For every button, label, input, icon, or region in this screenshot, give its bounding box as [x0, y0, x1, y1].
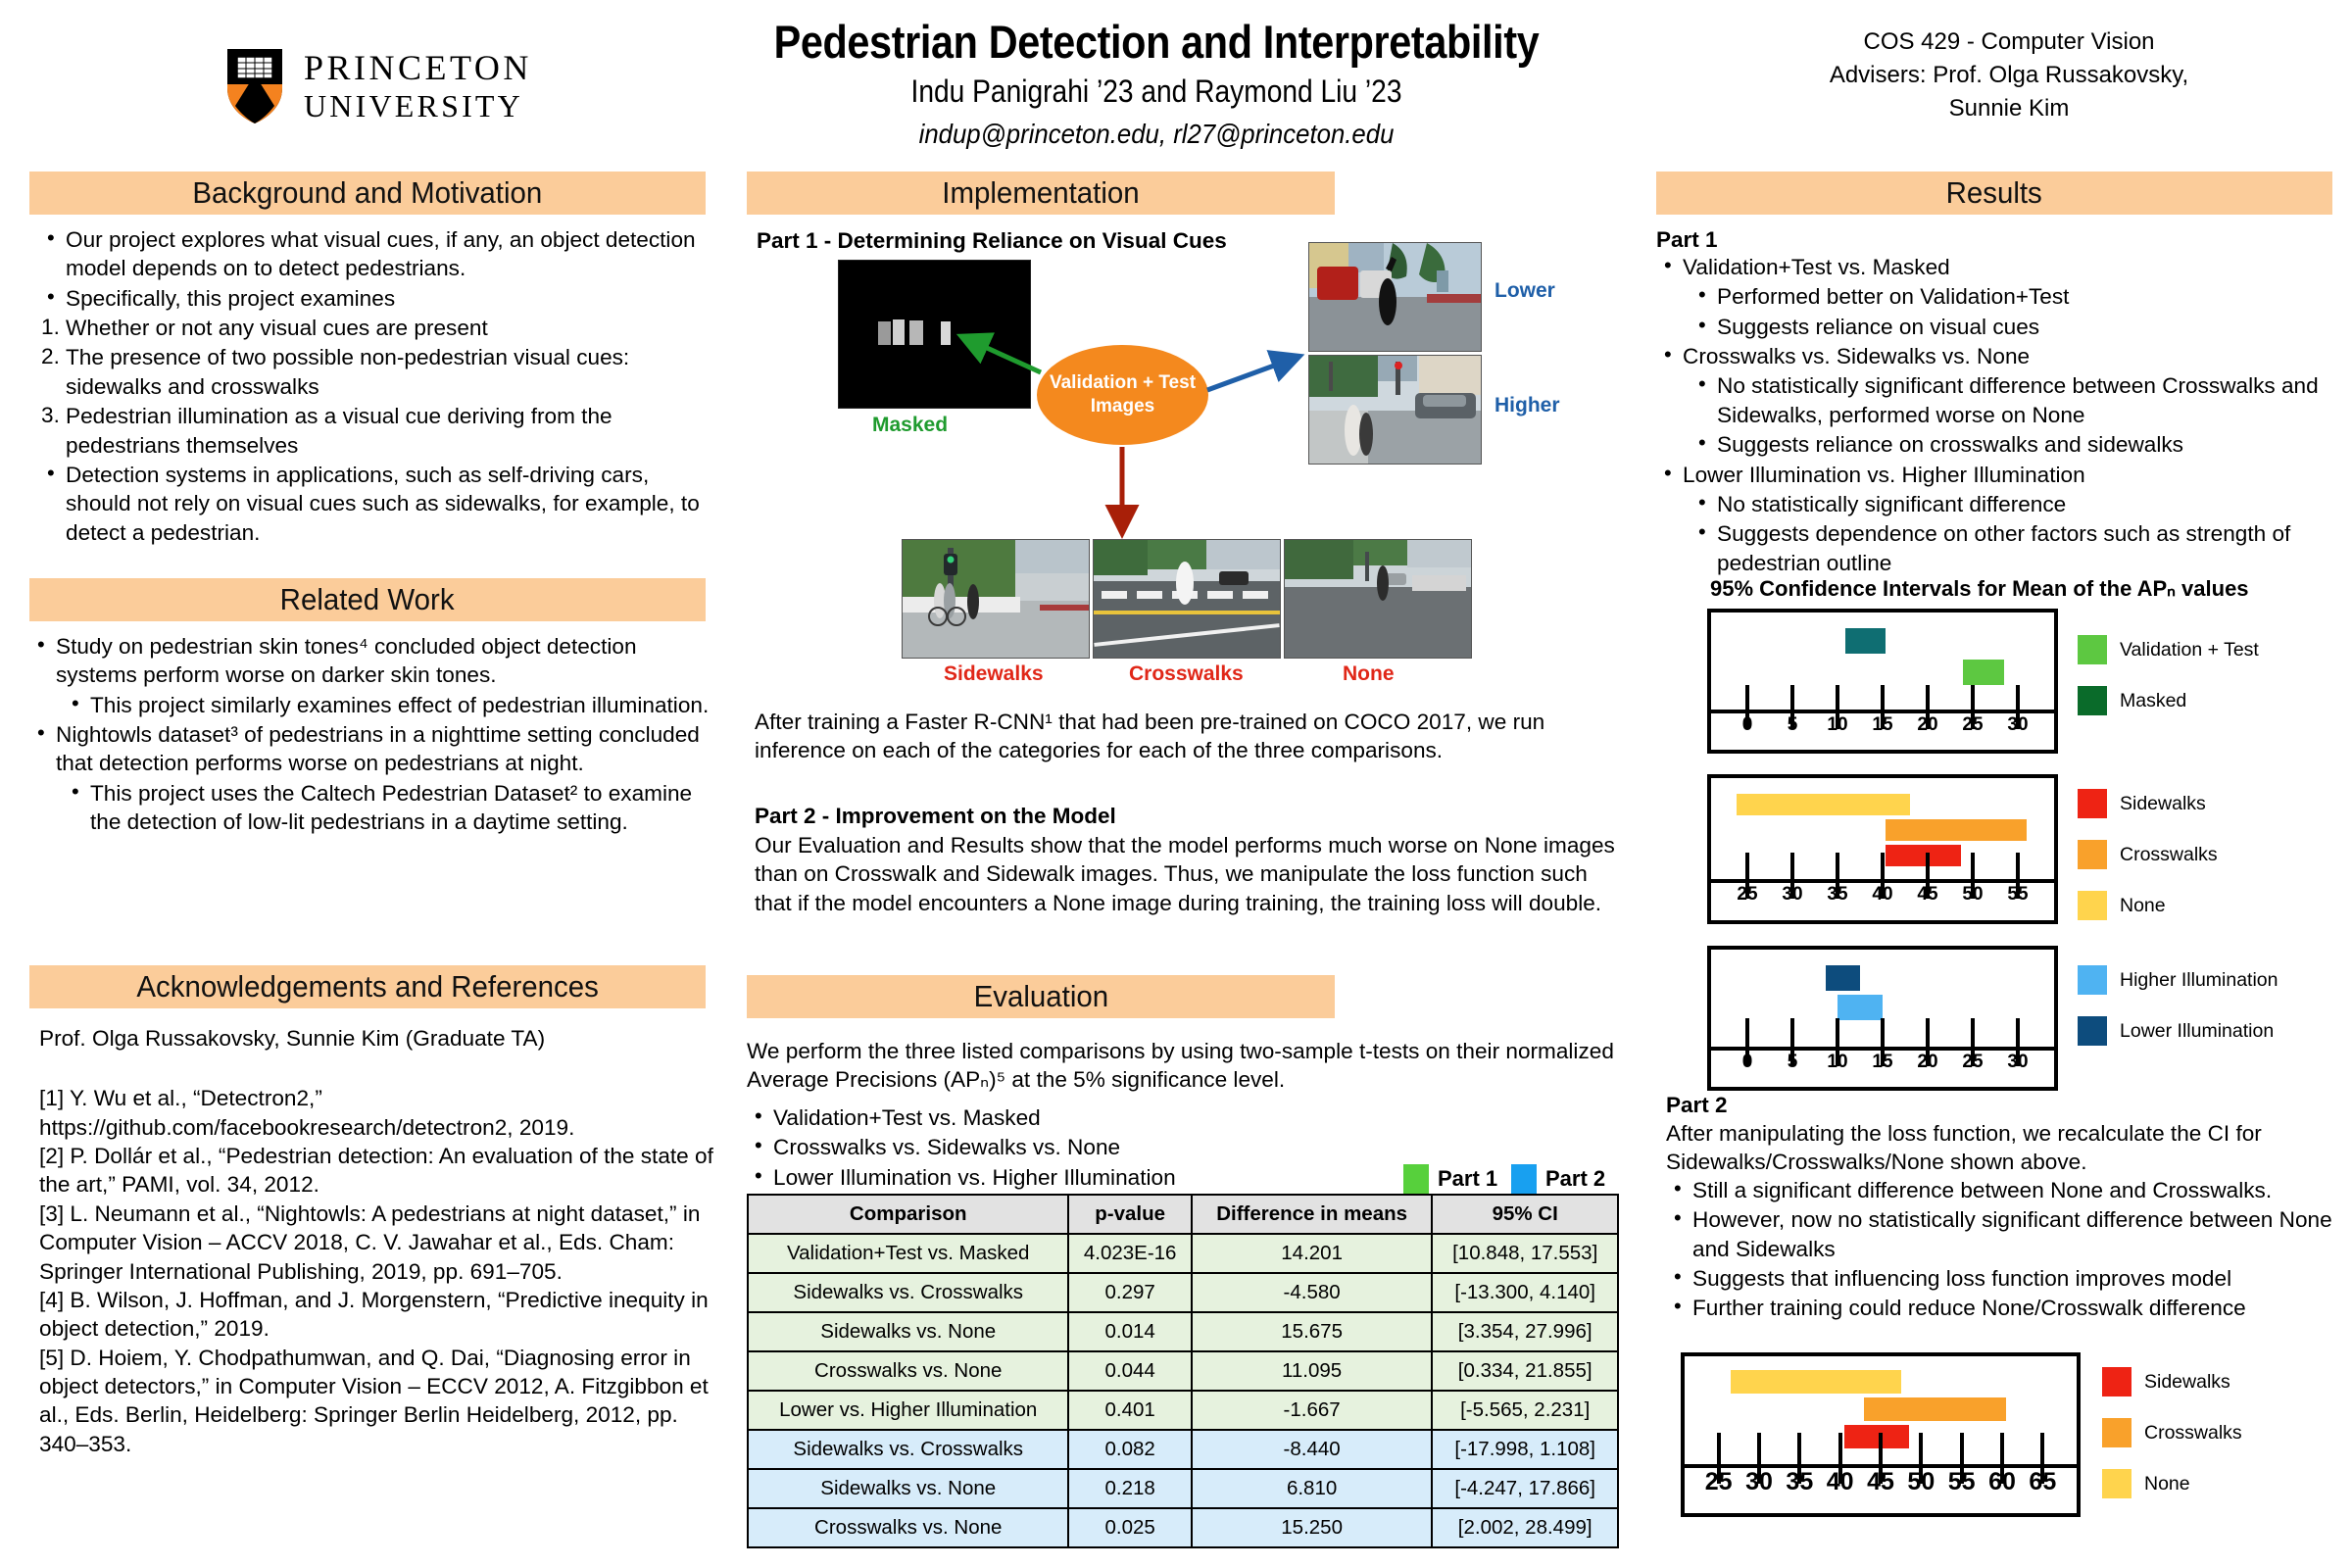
axis-tick — [1745, 685, 1749, 710]
reference-list: [1] Y. Wu et al., “Detectron2,” https://… — [39, 1084, 715, 1458]
princeton-shield-icon — [223, 45, 286, 125]
results-part1-item: Performed better on Validation+Test — [1656, 282, 2342, 311]
legend-swatch — [2102, 1469, 2131, 1498]
table-column-header: Comparison — [748, 1195, 1068, 1234]
caption-higher: Higher — [1494, 394, 1560, 417]
title-block: Pedestrian Detection and Interpretabilit… — [686, 18, 1627, 150]
axis-tick — [2016, 1018, 2020, 1048]
legend-swatch — [2102, 1367, 2131, 1396]
ci-chart-2: 25303540455055 — [1707, 774, 2058, 924]
section-header-acknowledgements: Acknowledgements and References — [29, 965, 706, 1008]
background-content: Our project explores what visual cues, i… — [39, 225, 715, 548]
table-body: Validation+Test vs. Masked4.023E-1614.20… — [748, 1234, 1618, 1547]
table-cell: -4.580 — [1192, 1273, 1433, 1312]
axis-tick-label: 20 — [1906, 1052, 1949, 1073]
table-cell: Crosswalks vs. None — [748, 1351, 1068, 1391]
legend-swatch — [2078, 789, 2107, 818]
caption-lower: Lower — [1494, 279, 1555, 303]
implementation-diagram: Masked Validation + Test Images — [755, 225, 1617, 676]
axis-tick — [1960, 1433, 1964, 1465]
section-header-related-work: Related Work — [29, 578, 706, 621]
ci-chart-part2: 253035404550556065 — [1681, 1352, 2081, 1517]
ci-chart-3-legend: Higher IlluminationLower Illumination — [2078, 965, 2278, 1067]
table-cell: 0.082 — [1068, 1430, 1191, 1469]
results-part1-item: Suggests reliance on crosswalks and side… — [1656, 430, 2342, 459]
legend-item: Crosswalks — [2078, 840, 2218, 869]
results-part1-item: Crosswalks vs. Sidewalks vs. None — [1656, 342, 2342, 370]
logo-line-1: PRINCETON — [304, 50, 532, 85]
background-item: Detection systems in applications, such … — [39, 461, 715, 547]
axis-tick-label: 55 — [1996, 884, 2039, 906]
axis-tick-label: 25 — [1951, 714, 1994, 736]
axis-tick — [1879, 1433, 1883, 1465]
legend-item: Lower Illumination — [2078, 1016, 2278, 1046]
table-cell: 0.044 — [1068, 1351, 1191, 1391]
axis-tick-label: 35 — [1816, 884, 1859, 906]
none-thumbnail — [1284, 539, 1472, 659]
section-header-background: Background and Motivation — [29, 171, 706, 215]
legend-part-2: Part 2 — [1511, 1164, 1605, 1194]
sidewalks-thumbnail — [902, 539, 1090, 659]
axis-tick — [1838, 1433, 1842, 1465]
results-part2-heading: Part 2 — [1666, 1093, 1728, 1118]
table-cell: 6.810 — [1192, 1469, 1433, 1508]
course-name: COS 429 - Computer Vision — [1705, 25, 2313, 59]
legend-label: Crosswalks — [2120, 844, 2218, 866]
axis-tick-label: 5 — [1771, 714, 1814, 736]
axis-tick — [1745, 1018, 1749, 1048]
table-cell: -8.440 — [1192, 1430, 1433, 1469]
related-work-item: This project similarly examines effect o… — [29, 691, 715, 719]
axis-tick-label: 65 — [2021, 1468, 2064, 1496]
table-cell: [2.002, 28.499] — [1432, 1508, 1618, 1547]
axis-tick-label: 25 — [1726, 884, 1769, 906]
axis-tick — [1717, 1433, 1721, 1465]
evaluation-bullets: Validation+Test vs. MaskedCrosswalks vs.… — [747, 1103, 1433, 1193]
results-part2-item: Still a significant difference between N… — [1666, 1176, 2352, 1204]
table-cell: Sidewalks vs. None — [748, 1469, 1068, 1508]
ci-bar-masked — [1845, 628, 1886, 654]
axis-tick-label: 0 — [1726, 1052, 1769, 1073]
axis-tick-label: 40 — [1819, 1468, 1862, 1496]
related-work-item: This project uses the Caltech Pedestrian… — [29, 779, 715, 837]
implementation-part2-heading: Part 2 - Improvement on the Model — [755, 804, 1617, 829]
ci-bar-none — [1731, 1370, 1901, 1394]
table-cell: [-4.247, 17.866] — [1432, 1469, 1618, 1508]
axis-tick-label: 5 — [1771, 1052, 1814, 1073]
axis-tick-label: 45 — [1859, 1468, 1902, 1496]
table-cell: -1.667 — [1192, 1391, 1433, 1430]
legend-swatch-part2 — [1511, 1164, 1537, 1194]
axis-tick — [1926, 1018, 1930, 1048]
axis-tick — [1971, 685, 1975, 710]
legend-swatch — [2078, 965, 2107, 995]
implementation-paragraph-2: Our Evaluation and Results show that the… — [755, 831, 1617, 917]
poster-header: PRINCETON UNIVERSITY Pedestrian Detectio… — [0, 0, 2352, 169]
legend-item: None — [2102, 1469, 2242, 1498]
axis-tick-label: 55 — [1940, 1468, 1984, 1496]
table-row: Crosswalks vs. None0.04411.095[0.334, 21… — [748, 1351, 1618, 1391]
results-part2-item: However, now no statistically significan… — [1666, 1205, 2352, 1263]
section-title-acknowledgements: Acknowledgements and References — [136, 969, 598, 1004]
evaluation-item: Crosswalks vs. Sidewalks vs. None — [747, 1133, 1433, 1161]
legend-item: Masked — [2078, 686, 2259, 715]
acknowledgements-text: Prof. Olga Russakovsky, Sunnie Kim (Grad… — [39, 1024, 715, 1053]
results-part1-item: Suggests reliance on visual cues — [1656, 313, 2342, 341]
table-row: Validation+Test vs. Masked4.023E-1614.20… — [748, 1234, 1618, 1273]
axis-tick — [1881, 853, 1885, 880]
axis-tick — [1881, 1018, 1885, 1048]
evaluation-intro: We perform the three listed comparisons … — [747, 1037, 1619, 1095]
lower-illumination-thumbnail — [1308, 242, 1482, 352]
ci-chart-part2-legend: SidewalksCrosswalksNone — [2102, 1367, 2242, 1520]
table-cell: 15.250 — [1192, 1508, 1433, 1547]
legend-label-part2: Part 2 — [1545, 1166, 1605, 1192]
legend-swatch — [2078, 1016, 2107, 1046]
results-part1-item: Validation+Test vs. Masked — [1656, 253, 2342, 281]
legend-label: Masked — [2120, 690, 2186, 712]
results-part1-item: No statistically significant difference … — [1656, 371, 2342, 429]
table-cell: [-5.565, 2.231] — [1432, 1391, 1618, 1430]
table-cell: Sidewalks vs. Crosswalks — [748, 1430, 1068, 1469]
princeton-logo: PRINCETON UNIVERSITY — [223, 47, 547, 123]
table-row: Sidewalks vs. None0.01415.675[3.354, 27.… — [748, 1312, 1618, 1351]
table-cell: Sidewalks vs. Crosswalks — [748, 1273, 1068, 1312]
table-cell: 11.095 — [1192, 1351, 1433, 1391]
acknowledgements-content: Prof. Olga Russakovsky, Sunnie Kim (Grad… — [39, 1024, 715, 1458]
axis-tick-label: 40 — [1861, 884, 1904, 906]
crosswalks-thumbnail — [1093, 539, 1281, 659]
table-cell: 0.401 — [1068, 1391, 1191, 1430]
background-list: Our project explores what visual cues, i… — [39, 225, 715, 547]
axis-tick-label: 10 — [1816, 1052, 1859, 1073]
axis-tick — [2016, 685, 2020, 710]
ci-chart-3: 051015202530 — [1707, 946, 2058, 1091]
related-work-item: Study on pedestrian skin tones⁴ conclude… — [29, 632, 715, 690]
section-title-implementation: Implementation — [942, 175, 1139, 211]
legend-item: Sidewalks — [2102, 1367, 2242, 1396]
results-part2-item: Further training could reduce None/Cross… — [1666, 1294, 2352, 1322]
results-part1-heading: Part 1 — [1656, 227, 1718, 253]
ci-bar-higher-illumination — [1837, 995, 1883, 1020]
legend-item: Higher Illumination — [2078, 965, 2278, 995]
ci-charts-title: 95% Confidence Intervals for Mean of the… — [1710, 576, 2249, 602]
table-row: Crosswalks vs. None0.02515.250[2.002, 28… — [748, 1508, 1618, 1547]
table-cell: 4.023E-16 — [1068, 1234, 1191, 1273]
results-part1-item: No statistically significant difference — [1656, 490, 2342, 518]
table-cell: 15.675 — [1192, 1312, 1433, 1351]
axis-tick — [1797, 1433, 1801, 1465]
axis-tick — [2000, 1433, 2004, 1465]
poster-canvas: PRINCETON UNIVERSITY Pedestrian Detectio… — [0, 0, 2352, 1568]
legend-label: None — [2144, 1473, 2190, 1495]
table-cell: [-17.998, 1.108] — [1432, 1430, 1618, 1469]
axis-tick — [2040, 1433, 2044, 1465]
axis-tick-label: 30 — [1996, 1052, 2039, 1073]
ci-chart-1: 051015202530 — [1707, 609, 2058, 754]
table-row: Sidewalks vs. Crosswalks0.297-4.580[-13.… — [748, 1273, 1618, 1312]
axis-tick — [1836, 1018, 1839, 1048]
legend-swatch — [2078, 891, 2107, 920]
implementation-paragraph-1: After training a Faster R-CNN¹ that had … — [755, 708, 1617, 765]
axis-tick-label: 20 — [1906, 714, 1949, 736]
table-header-row: Comparisonp-valueDifference in means95% … — [748, 1195, 1618, 1234]
table-cell: Lower vs. Higher Illumination — [748, 1391, 1068, 1430]
table-column-header: 95% CI — [1432, 1195, 1618, 1234]
section-header-evaluation: Evaluation — [747, 975, 1335, 1018]
legend-label-part1: Part 1 — [1438, 1166, 1497, 1192]
related-work-list: Study on pedestrian skin tones⁴ conclude… — [29, 632, 715, 837]
axis-tick-label: 50 — [1951, 884, 1994, 906]
table-row: Sidewalks vs. None0.2186.810[-4.247, 17.… — [748, 1469, 1618, 1508]
legend-item: None — [2078, 891, 2218, 920]
advisers-line-2: Sunnie Kim — [1705, 92, 2313, 125]
axis-tick-label: 35 — [1778, 1468, 1821, 1496]
results-table: Comparisonp-valueDifference in means95% … — [747, 1194, 1619, 1548]
axis-tick — [1745, 853, 1749, 880]
table-cell: 0.025 — [1068, 1508, 1191, 1547]
axis-tick — [1971, 853, 1975, 880]
table-cell: [3.354, 27.996] — [1432, 1312, 1618, 1351]
table-cell: Crosswalks vs. None — [748, 1508, 1068, 1547]
axis-tick-label: 30 — [1771, 884, 1814, 906]
axis-tick-label: 60 — [1981, 1468, 2024, 1496]
results-part1-item: Suggests dependence on other factors suc… — [1656, 519, 2342, 577]
legend-label: Lower Illumination — [2120, 1020, 2274, 1043]
higher-illumination-thumbnail — [1308, 355, 1482, 465]
background-item: Pedestrian illumination as a visual cue … — [39, 402, 715, 460]
legend-label: Sidewalks — [2144, 1371, 2230, 1394]
legend-label: Crosswalks — [2144, 1422, 2242, 1445]
results-part1-item: Lower Illumination vs. Higher Illuminati… — [1656, 461, 2342, 489]
axis-tick-label: 45 — [1906, 884, 1949, 906]
legend-swatch — [2078, 635, 2107, 664]
axis-tick — [1926, 853, 1930, 880]
ci-chart-2-legend: SidewalksCrosswalksNone — [2078, 789, 2218, 942]
related-work-item: Nightowls dataset³ of pedestrians in a n… — [29, 720, 715, 778]
legend-label: Validation + Test — [2120, 639, 2259, 661]
table-row: Sidewalks vs. Crosswalks0.082-8.440[-17.… — [748, 1430, 1618, 1469]
section-header-results: Results — [1656, 171, 2332, 215]
background-item: Our project explores what visual cues, i… — [39, 225, 715, 283]
evaluation-item: Validation+Test vs. Masked — [747, 1103, 1433, 1132]
table-cell: Validation+Test vs. Masked — [748, 1234, 1068, 1273]
legend-swatch — [2102, 1418, 2131, 1447]
ci-bar-none — [1737, 794, 1910, 815]
ci-bar-sidewalks — [1886, 845, 1961, 866]
results-part1-content: Validation+Test vs. MaskedPerformed bett… — [1656, 253, 2342, 578]
axis-tick-label: 15 — [1861, 714, 1904, 736]
logo-line-2: UNIVERSITY — [304, 90, 532, 122]
poster-emails: indup@princeton.edu, rl27@princeton.edu — [723, 119, 1589, 150]
table-row: Lower vs. Higher Illumination0.401-1.667… — [748, 1391, 1618, 1430]
legend-item: Crosswalks — [2102, 1418, 2242, 1447]
reference-entry: [1] Y. Wu et al., “Detectron2,” https://… — [39, 1084, 715, 1142]
reference-entry: [5] D. Hoiem, Y. Chodpathumwan, and Q. D… — [39, 1344, 715, 1458]
axis-tick-label: 15 — [1861, 1052, 1904, 1073]
background-item: The presence of two possible non-pedestr… — [39, 343, 715, 401]
axis-tick — [1790, 853, 1794, 880]
background-item: Specifically, this project examines — [39, 284, 715, 313]
results-part2-intro: After manipulating the loss function, we… — [1666, 1119, 2352, 1177]
section-header-implementation: Implementation — [747, 171, 1335, 215]
related-work-content: Study on pedestrian skin tones⁴ conclude… — [29, 632, 715, 838]
legend-item: Sidewalks — [2078, 789, 2218, 818]
legend-swatch — [2078, 686, 2107, 715]
course-info: COS 429 - Computer Vision Advisers: Prof… — [1705, 25, 2313, 125]
ci-bar-validation-test — [1963, 660, 2004, 685]
ci-bar-crosswalks — [1864, 1397, 2006, 1421]
axis-tick-label: 10 — [1816, 714, 1859, 736]
axis-tick — [1881, 685, 1885, 710]
ci-bar-sidewalks — [1844, 1425, 1909, 1448]
axis-tick — [1971, 1018, 1975, 1048]
poster-authors: Indu Panigrahi ’23 and Raymond Liu ’23 — [743, 73, 1571, 110]
axis-tick-label: 30 — [1996, 714, 2039, 736]
table-column-header: p-value — [1068, 1195, 1191, 1234]
table-cell: Sidewalks vs. None — [748, 1312, 1068, 1351]
axis-tick — [1836, 685, 1839, 710]
legend-label: Higher Illumination — [2120, 969, 2278, 992]
table-cell: [0.334, 21.855] — [1432, 1351, 1618, 1391]
axis-tick-label: 30 — [1738, 1468, 1781, 1496]
ci-bar-crosswalks — [1886, 819, 2027, 841]
caption-sidewalks: Sidewalks — [944, 662, 1044, 686]
axis-tick-label: 50 — [1899, 1468, 1942, 1496]
reference-entry: [2] P. Dollár et al., “Pedestrian detect… — [39, 1142, 715, 1200]
legend-label: None — [2120, 895, 2166, 917]
table-cell: 0.014 — [1068, 1312, 1191, 1351]
table-cell: [10.848, 17.553] — [1432, 1234, 1618, 1273]
caption-crosswalks: Crosswalks — [1129, 662, 1244, 686]
legend-part-1: Part 1 — [1403, 1164, 1497, 1194]
section-title-background: Background and Motivation — [193, 175, 543, 211]
axis-tick — [1790, 685, 1794, 710]
legend-swatch — [2078, 840, 2107, 869]
axis-tick-label: 0 — [1726, 714, 1769, 736]
evaluation-item: Lower Illumination vs. Higher Illuminati… — [747, 1163, 1433, 1192]
table-cell: 0.297 — [1068, 1273, 1191, 1312]
poster-title: Pedestrian Detection and Interpretabilit… — [743, 18, 1571, 67]
ci-chart-1-legend: Validation + TestMasked — [2078, 635, 2259, 737]
axis-tick-label: 25 — [1697, 1468, 1740, 1496]
caption-none: None — [1343, 662, 1395, 686]
ci-bar-lower-illumination — [1826, 965, 1860, 991]
legend-swatch-part1 — [1403, 1164, 1429, 1194]
axis-tick — [1926, 685, 1930, 710]
results-part2-item: Suggests that influencing loss function … — [1666, 1264, 2352, 1293]
section-title-related-work: Related Work — [280, 582, 455, 617]
axis-tick — [1757, 1433, 1761, 1465]
legend-item: Validation + Test — [2078, 635, 2259, 664]
axis-tick — [2016, 853, 2020, 880]
table-cell: [-13.300, 4.140] — [1432, 1273, 1618, 1312]
section-title-evaluation: Evaluation — [973, 979, 1108, 1014]
reference-entry: [3] L. Neumann et al., “Nightowls: A ped… — [39, 1200, 715, 1286]
axis-tick-label: 25 — [1951, 1052, 1994, 1073]
results-part2-content: Still a significant difference between N… — [1666, 1176, 2352, 1324]
axis-tick — [1790, 1018, 1794, 1048]
section-title-results: Results — [1946, 175, 2042, 211]
legend-label: Sidewalks — [2120, 793, 2206, 815]
table-column-header: Difference in means — [1192, 1195, 1433, 1234]
axis-tick — [1836, 853, 1839, 880]
reference-entry: [4] B. Wilson, J. Hoffman, and J. Morgen… — [39, 1286, 715, 1344]
advisers-line-1: Advisers: Prof. Olga Russakovsky, — [1705, 59, 2313, 92]
table-cell: 14.201 — [1192, 1234, 1433, 1273]
table-cell: 0.218 — [1068, 1469, 1191, 1508]
background-item: Whether or not any visual cues are prese… — [39, 314, 715, 342]
axis-tick — [1919, 1433, 1923, 1465]
